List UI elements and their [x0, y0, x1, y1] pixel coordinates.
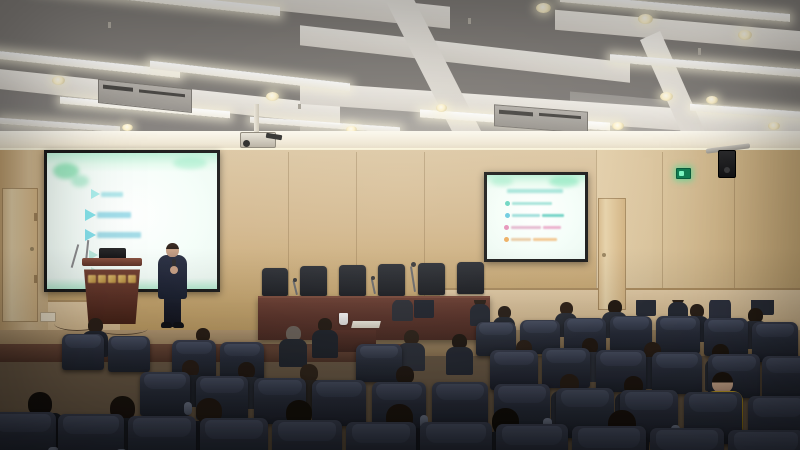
slide-decoration [549, 176, 579, 187]
door-knob[interactable] [602, 253, 606, 257]
slide-title [507, 189, 563, 193]
ceiling-downlight [122, 124, 133, 131]
door-right[interactable] [598, 198, 626, 310]
presenter-hand [170, 266, 178, 274]
speaker-cone [724, 167, 730, 173]
secondary-projection-screen [484, 172, 588, 262]
projector-lens [243, 140, 250, 147]
microphone-head [293, 278, 297, 282]
row-highlight [543, 226, 561, 229]
auditorium-seat[interactable] [650, 428, 724, 450]
ceiling-downlight [768, 122, 780, 130]
main-screen-surface [47, 153, 217, 289]
head-table-chair[interactable] [418, 263, 445, 295]
right-screen-surface [487, 175, 585, 259]
slide-bullet [91, 189, 123, 199]
head-table-chair[interactable] [339, 265, 366, 296]
microphone-head [411, 262, 416, 267]
head-table-chair[interactable] [457, 262, 484, 294]
row-text [511, 226, 541, 229]
slide-decoration [71, 175, 89, 187]
sprinkler-head [298, 104, 301, 109]
audience-seating [0, 300, 800, 450]
sprinkler-head [108, 22, 111, 28]
ceiling-downlight [266, 92, 279, 101]
row-text [511, 238, 531, 241]
row-highlight [533, 238, 557, 241]
slide-row [505, 213, 564, 218]
podium-nameplate [86, 274, 138, 283]
auditorium-seat[interactable] [728, 430, 800, 450]
auditorium-seat[interactable] [652, 352, 702, 394]
auditorium-seat[interactable] [656, 316, 700, 354]
slide-row [505, 201, 552, 206]
auditorium-seat[interactable] [140, 372, 190, 416]
slide-decoration [491, 177, 513, 186]
wall-speaker [718, 150, 736, 178]
auditorium-seat[interactable] [346, 422, 416, 450]
ceiling-downlight [612, 122, 624, 130]
slide-bullet [85, 209, 131, 221]
auditorium-seat[interactable] [58, 414, 124, 450]
head-table-chair[interactable] [378, 264, 405, 296]
ceiling-downlight [660, 92, 673, 101]
head-table-chair[interactable] [262, 268, 288, 296]
lecture-hall-photo [0, 0, 800, 450]
slide-row [504, 237, 557, 242]
ceiling-downlight [706, 96, 718, 104]
slide-row [504, 225, 561, 230]
auditorium-seat[interactable] [762, 356, 800, 400]
auditorium-seat[interactable] [108, 336, 150, 372]
auditorium-seat[interactable] [128, 416, 196, 450]
microphone-head [371, 276, 375, 280]
row-text [512, 214, 540, 217]
ceiling-downlight [638, 14, 653, 24]
ceiling-downlight [436, 104, 447, 112]
row-text [512, 202, 552, 205]
ceiling-downlight [738, 30, 752, 40]
auditorium-seat[interactable] [496, 424, 568, 450]
ceiling-downlight [52, 76, 65, 85]
person-head [712, 372, 733, 393]
projector-mount-pole [254, 104, 259, 134]
door-hinge [34, 275, 37, 283]
sprinkler-head [698, 48, 701, 55]
door-hinge [34, 213, 37, 221]
row-marker [504, 237, 509, 242]
auditorium-seat[interactable] [272, 420, 342, 450]
door-knob[interactable] [30, 247, 34, 251]
slide-decoration [173, 157, 207, 169]
row-marker [505, 213, 510, 218]
head-table-chair[interactable] [300, 266, 327, 296]
row-marker [504, 225, 509, 230]
slide-bullet [85, 229, 141, 241]
auditorium-seat[interactable] [420, 422, 492, 450]
podium-top [82, 258, 142, 266]
ceiling-downlight [536, 3, 551, 13]
auditorium-seat[interactable] [572, 426, 646, 450]
auditorium-seat[interactable] [200, 418, 268, 450]
auditorium-seat[interactable] [62, 334, 104, 370]
row-marker [505, 201, 510, 206]
auditorium-seat[interactable] [0, 412, 56, 450]
sprinkler-head [468, 18, 471, 24]
exit-sign [676, 168, 691, 179]
row-highlight [542, 214, 564, 217]
presenter-head [166, 243, 179, 257]
